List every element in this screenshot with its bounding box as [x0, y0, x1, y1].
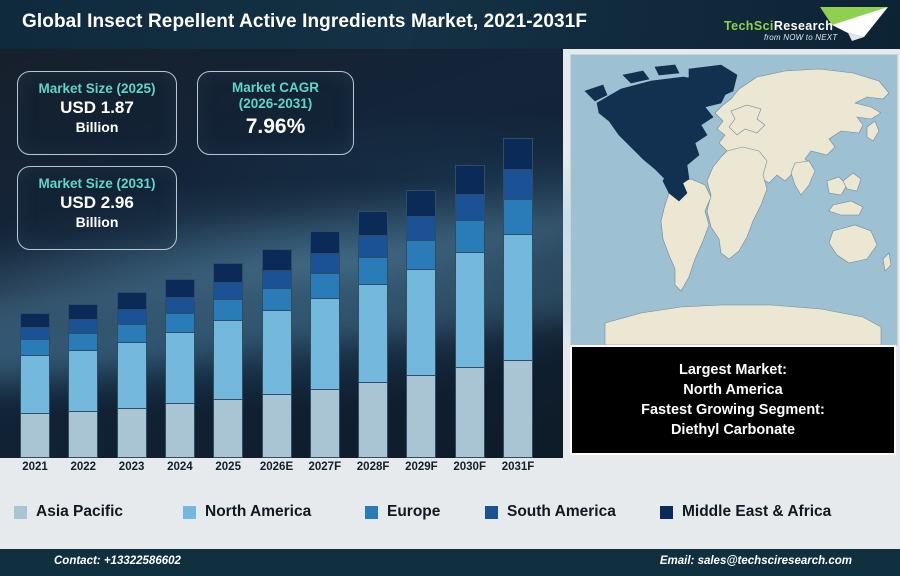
bar-segment: [117, 342, 147, 408]
card-label: Market Size (2025): [18, 81, 176, 97]
bar-segment: [503, 199, 533, 235]
axis-tick-label: 2030F: [446, 461, 494, 473]
bar-segment: [68, 333, 98, 350]
callout-line-3: Fastest Growing Segment:: [641, 400, 825, 420]
bar-segment: [455, 165, 485, 194]
legend-label: Europe: [387, 503, 440, 521]
world-map: [570, 54, 898, 346]
card-label-period: (2026-2031): [198, 96, 353, 112]
bar-segment: [68, 411, 98, 458]
bar-segment: [503, 360, 533, 458]
infographic-root: Global Insect Repellent Active Ingredien…: [0, 0, 900, 576]
bar-segment: [262, 288, 292, 310]
axis-tick-label: 2024: [156, 461, 204, 473]
bar-segment: [310, 298, 340, 389]
bar-segment: [213, 399, 243, 458]
axis-tick-label: 2021: [11, 461, 59, 473]
bar-segment: [358, 257, 388, 284]
bar-segment: [117, 324, 147, 342]
bar-segment: [406, 240, 436, 269]
chart-x-axis: 202120222023202420252026E2027F2028F2029F…: [0, 458, 563, 486]
legend-swatch: [660, 506, 673, 519]
bar-segment: [262, 310, 292, 394]
bar-segment: [117, 292, 147, 309]
axis-tick-label: 2022: [59, 461, 107, 473]
bar-column: [117, 292, 147, 458]
legend-item[interactable]: Middle East & Africa: [660, 503, 831, 521]
legend-label: North America: [205, 503, 311, 521]
card-label: Market Size (2031): [18, 176, 176, 192]
bar-segment: [262, 249, 292, 270]
bar-segment: [310, 253, 340, 273]
bar-segment: [68, 319, 98, 332]
stat-card-market-size-2025: Market Size (2025) USD 1.87 Billion: [17, 71, 177, 155]
bar-segment: [455, 367, 485, 458]
world-map-svg: [571, 55, 897, 345]
bar-column: [20, 313, 50, 458]
bar-segment: [20, 355, 50, 413]
bar-segment: [310, 273, 340, 298]
card-unit: Billion: [18, 213, 176, 231]
bar-segment: [213, 282, 243, 299]
bar-segment: [165, 403, 195, 458]
bar-segment: [406, 216, 436, 239]
bar-segment: [165, 297, 195, 313]
bar-segment: [406, 269, 436, 375]
bar-segment: [503, 234, 533, 359]
axis-tick-label: 2028F: [349, 461, 397, 473]
logo-wordmark: TechSciResearch: [724, 19, 833, 33]
axis-tick-label: 2027F: [301, 461, 349, 473]
callout-box: Largest Market: North America Fastest Gr…: [570, 345, 896, 455]
techsci-research-logo: TechSciResearch from NOW to NEXT: [712, 3, 892, 47]
footer-email: Email: sales@techsciresearch.com: [660, 555, 852, 567]
chart-legend: Asia PacificNorth AmericaEuropeSouth Ame…: [0, 486, 900, 538]
stat-card-market-cagr: Market CAGR (2026-2031) 7.96%: [197, 71, 354, 155]
bar-segment: [213, 299, 243, 320]
bar-segment: [406, 375, 436, 458]
bar-segment: [213, 320, 243, 398]
bar-segment: [358, 382, 388, 458]
bar-segment: [20, 327, 50, 339]
callout-line-1: Largest Market:: [679, 360, 787, 380]
legend-item[interactable]: Europe: [365, 503, 440, 521]
bar-segment: [455, 220, 485, 252]
axis-tick-label: 2029F: [397, 461, 445, 473]
bar-segment: [20, 313, 50, 328]
bar-segment: [68, 304, 98, 320]
bar-segment: [165, 279, 195, 297]
logo-tech-text: TechSci: [724, 19, 774, 33]
bar-segment: [117, 309, 147, 324]
header-bar: Global Insect Repellent Active Ingredien…: [0, 0, 900, 49]
bar-segment: [358, 235, 388, 256]
card-value: 7.96%: [198, 114, 353, 140]
bar-segment: [165, 332, 195, 404]
bar-column: [358, 211, 388, 458]
bar-column: [503, 138, 533, 458]
bar-segment: [20, 339, 50, 355]
card-value: USD 1.87: [18, 97, 176, 118]
legend-item[interactable]: Asia Pacific: [14, 503, 123, 521]
legend-label: Asia Pacific: [36, 503, 123, 521]
axis-tick-label: 2031F: [494, 461, 542, 473]
axis-tick-label: 2025: [204, 461, 252, 473]
callout-line-2: North America: [683, 380, 782, 400]
bar-segment: [406, 190, 436, 217]
footer-contact: Contact: +13322586602: [54, 555, 181, 567]
stat-card-market-size-2031: Market Size (2031) USD 2.96 Billion: [17, 166, 177, 250]
card-value: USD 2.96: [18, 192, 176, 213]
legend-swatch: [183, 506, 196, 519]
bar-column: [262, 249, 292, 458]
card-unit: Billion: [18, 118, 176, 136]
bar-column: [455, 165, 485, 458]
legend-label: Middle East & Africa: [682, 503, 831, 521]
bar-segment: [262, 270, 292, 288]
bar-segment: [503, 169, 533, 198]
bar-segment: [310, 389, 340, 458]
logo-tagline: from NOW to NEXT: [764, 33, 837, 42]
legend-swatch: [365, 506, 378, 519]
legend-item[interactable]: North America: [183, 503, 311, 521]
footer-bar: Contact: +13322586602 Email: sales@techs…: [0, 549, 900, 576]
callout-line-4: Diethyl Carbonate: [671, 420, 795, 440]
axis-tick-label: 2026E: [253, 461, 301, 473]
bar-column: [213, 263, 243, 458]
logo-research-text: Research: [774, 19, 834, 33]
bar-column: [165, 279, 195, 458]
card-label: Market CAGR: [198, 80, 353, 96]
bar-column: [310, 231, 340, 458]
bar-segment: [20, 413, 50, 458]
bar-segment: [455, 252, 485, 367]
legend-item[interactable]: South America: [485, 503, 616, 521]
bar-segment: [310, 231, 340, 253]
legend-swatch: [485, 506, 498, 519]
bar-segment: [503, 138, 533, 169]
bar-segment: [165, 313, 195, 332]
axis-tick-label: 2023: [108, 461, 156, 473]
legend-label: South America: [507, 503, 616, 521]
bar-segment: [262, 394, 292, 458]
bar-segment: [358, 211, 388, 236]
bar-segment: [358, 284, 388, 382]
bar-segment: [68, 350, 98, 412]
bar-column: [68, 304, 98, 458]
bar-segment: [213, 263, 243, 282]
bar-segment: [455, 194, 485, 220]
page-title: Global Insect Repellent Active Ingredien…: [22, 11, 587, 33]
legend-swatch: [14, 506, 27, 519]
bar-segment: [117, 408, 147, 458]
bar-column: [406, 190, 436, 458]
